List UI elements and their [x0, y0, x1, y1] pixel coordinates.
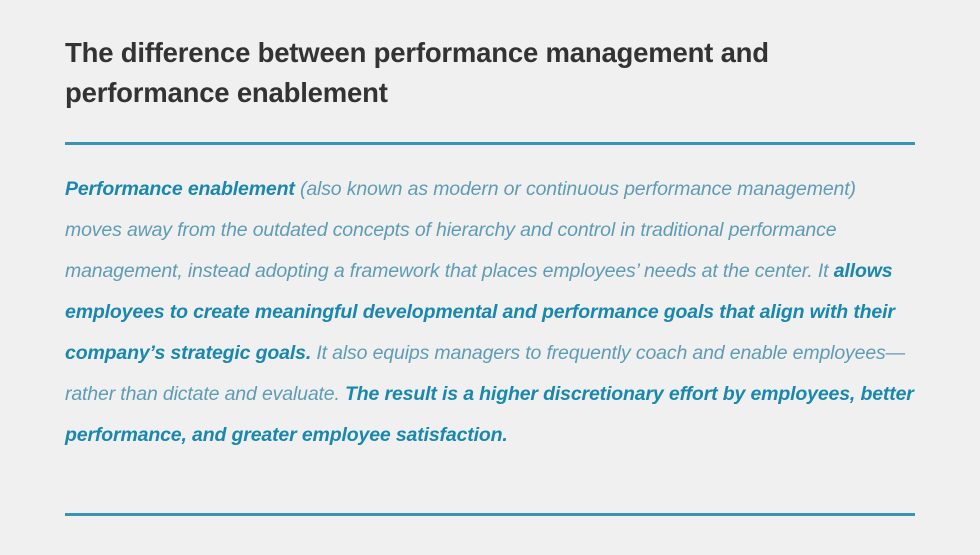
performance-enablement-callout: The difference between performance manag…: [0, 0, 980, 555]
page-title: The difference between performance manag…: [65, 0, 855, 112]
body-emphasis-run: Performance enablement: [65, 178, 295, 200]
divider-bottom: [65, 513, 915, 516]
body-paragraph: Performance enablement (also known as mo…: [65, 145, 915, 456]
